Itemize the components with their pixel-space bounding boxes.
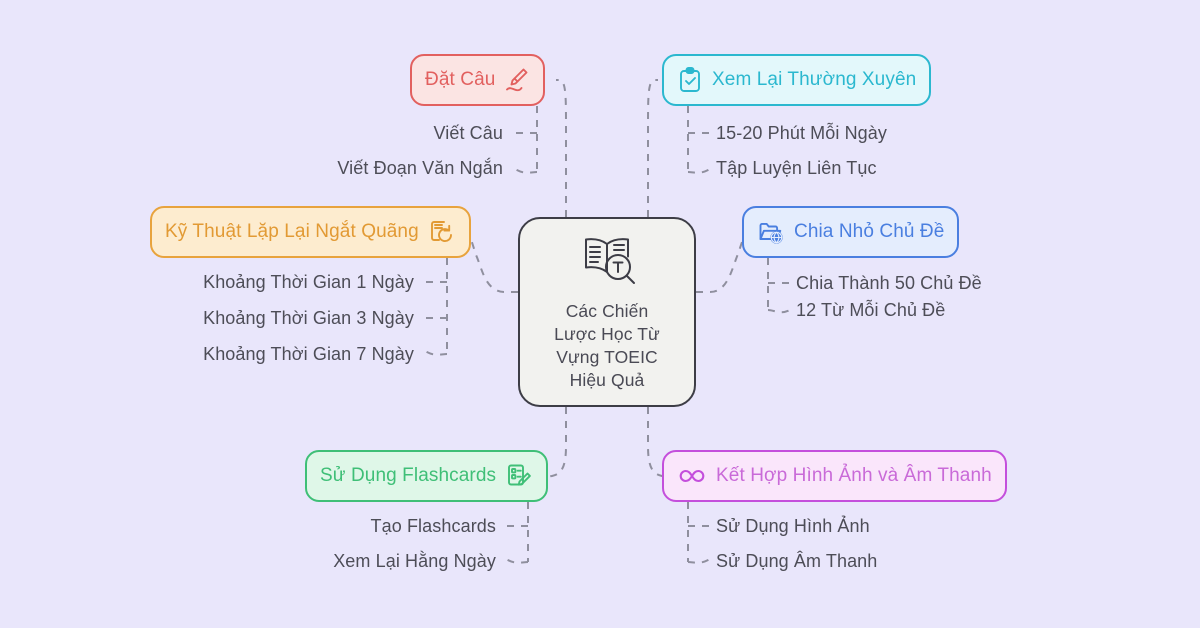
clipboard-check-icon — [677, 66, 703, 94]
branch-node-ky-thuat-lap-lai[interactable]: Kỹ Thuật Lặp Lại Ngắt Quãng — [150, 206, 471, 258]
branch-node-ket-hop-hinh-anh-am-thanh[interactable]: Kết Hợp Hình Ảnh và Âm Thanh — [662, 450, 1007, 502]
branch-label-dat-cau: Đặt Câu — [425, 69, 495, 91]
branch-node-xem-lai-thuong-xuyen[interactable]: Xem Lại Thường Xuyên — [662, 54, 931, 106]
branch-label-xem-lai-thuong-xuyen: Xem Lại Thường Xuyên — [712, 69, 916, 91]
open-book-magnifier-t-icon — [576, 233, 638, 294]
infinity-icon — [677, 465, 707, 487]
connector-leaf-chia-nho-1 — [768, 310, 790, 312]
sub-item-ky-thuat-0[interactable]: Khoảng Thời Gian 1 Ngày — [203, 272, 414, 293]
sub-item-chia-nho-1[interactable]: 12 Từ Mỗi Chủ Đề — [796, 300, 945, 321]
branch-label-su-dung-flashcards: Sử Dụng Flashcards — [320, 465, 496, 487]
branch-node-chia-nho-chu-de[interactable]: Chia Nhỏ Chủ Đề — [742, 206, 959, 258]
sub-item-dat-cau-0[interactable]: Viết Câu — [433, 123, 503, 144]
connector-leaf-flashcards-1 — [506, 559, 528, 563]
connector-center-to-ky-thuat — [470, 236, 518, 292]
sub-item-ky-thuat-2[interactable]: Khoảng Thời Gian 7 Ngày — [203, 344, 414, 365]
connector-leaf-xem-lai-1 — [688, 169, 710, 173]
sub-item-xem-lai-1[interactable]: Tập Luyện Liên Tục — [716, 158, 877, 179]
connector-center-to-dat-cau — [556, 80, 566, 217]
connector-leaf-dat-cau-1 — [515, 169, 537, 173]
center-title: Các Chiến Lược Học Từ Vựng TOEIC Hiệu Qu… — [554, 300, 660, 392]
folder-globe-icon — [757, 218, 785, 246]
connector-center-to-chia-nho — [696, 236, 744, 292]
pen-signature-icon — [504, 66, 530, 94]
connector-center-to-flashcards — [546, 407, 566, 477]
branch-label-ky-thuat-lap-lai: Kỹ Thuật Lặp Lại Ngắt Quãng — [165, 221, 419, 243]
sub-item-dat-cau-1[interactable]: Viết Đoạn Văn Ngắn — [337, 158, 503, 179]
sub-item-chia-nho-0[interactable]: Chia Thành 50 Chủ Đề — [796, 273, 982, 294]
sub-item-flashcards-0[interactable]: Tạo Flashcards — [371, 516, 496, 537]
mindmap-canvas: Các Chiến Lược Học Từ Vựng TOEIC Hiệu Qu… — [0, 0, 1200, 628]
branch-label-chia-nho-chu-de: Chia Nhỏ Chủ Đề — [794, 221, 944, 243]
card-repeat-icon — [428, 218, 456, 246]
branch-node-dat-cau[interactable]: Đặt Câu — [410, 54, 545, 106]
center-node[interactable]: Các Chiến Lược Học Từ Vựng TOEIC Hiệu Qu… — [518, 217, 696, 407]
sub-item-flashcards-1[interactable]: Xem Lại Hằng Ngày — [333, 551, 496, 572]
branch-label-ket-hop-hinh-anh-am-thanh: Kết Hợp Hình Ảnh và Âm Thanh — [716, 465, 992, 487]
sub-item-ket-hop-0[interactable]: Sử Dụng Hình Ảnh — [716, 516, 870, 537]
sub-item-ky-thuat-1[interactable]: Khoảng Thời Gian 3 Ngày — [203, 308, 414, 329]
connector-leaf-ket-hop-1 — [688, 559, 710, 563]
sub-item-xem-lai-0[interactable]: 15-20 Phút Mỗi Ngày — [716, 123, 887, 144]
connector-center-to-xem-lai — [648, 80, 658, 217]
branch-node-su-dung-flashcards[interactable]: Sử Dụng Flashcards — [305, 450, 548, 502]
connector-leaf-ky-thuat-2 — [425, 351, 447, 355]
sub-item-ket-hop-1[interactable]: Sử Dụng Âm Thanh — [716, 551, 877, 572]
flashcard-edit-icon — [505, 462, 533, 490]
